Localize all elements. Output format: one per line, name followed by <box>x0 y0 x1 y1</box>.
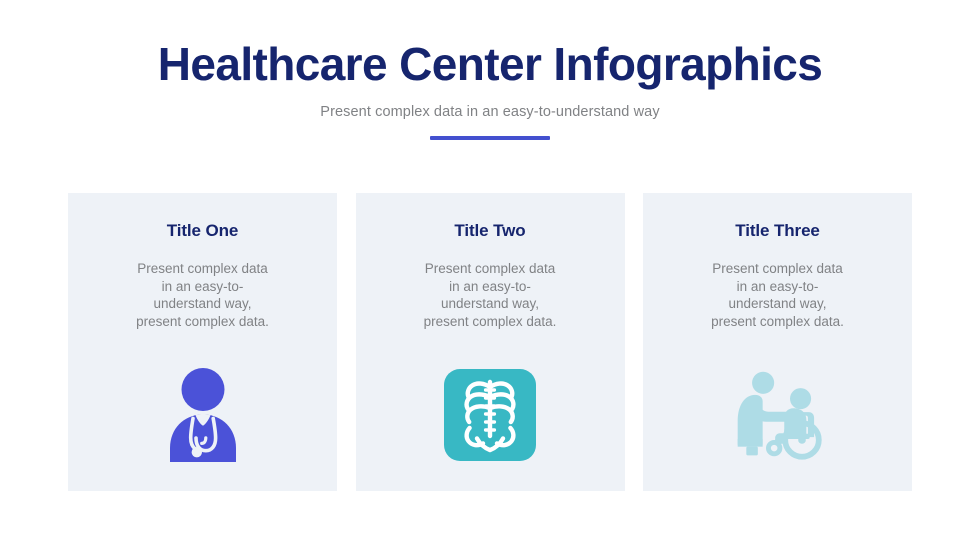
card-two-title: Title Two <box>454 220 525 242</box>
card-two-body: Present complex data in an easy-to- unde… <box>424 260 557 330</box>
card-three-title: Title Three <box>735 220 820 242</box>
card-one-body: Present complex data in an easy-to- unde… <box>136 260 269 330</box>
slide-canvas: Healthcare Center Infographics Present c… <box>0 0 980 551</box>
caregiver-wheelchair-icon <box>730 367 826 463</box>
card-three-body: Present complex data in an easy-to- unde… <box>711 260 844 330</box>
accent-divider <box>430 136 550 140</box>
doctor-stethoscope-icon <box>155 367 251 463</box>
card-one-title: Title One <box>167 220 239 242</box>
card-row: Title One Present complex data in an eas… <box>68 193 912 491</box>
ribcage-xray-icon <box>442 367 538 463</box>
slide-header: Healthcare Center Infographics Present c… <box>0 36 980 140</box>
page-subtitle: Present complex data in an easy-to-under… <box>0 102 980 122</box>
page-title: Healthcare Center Infographics <box>0 36 980 92</box>
info-card-two[interactable]: Title Two Present complex data in an eas… <box>356 193 625 491</box>
info-card-one[interactable]: Title One Present complex data in an eas… <box>68 193 337 491</box>
info-card-three[interactable]: Title Three Present complex data in an e… <box>643 193 912 491</box>
